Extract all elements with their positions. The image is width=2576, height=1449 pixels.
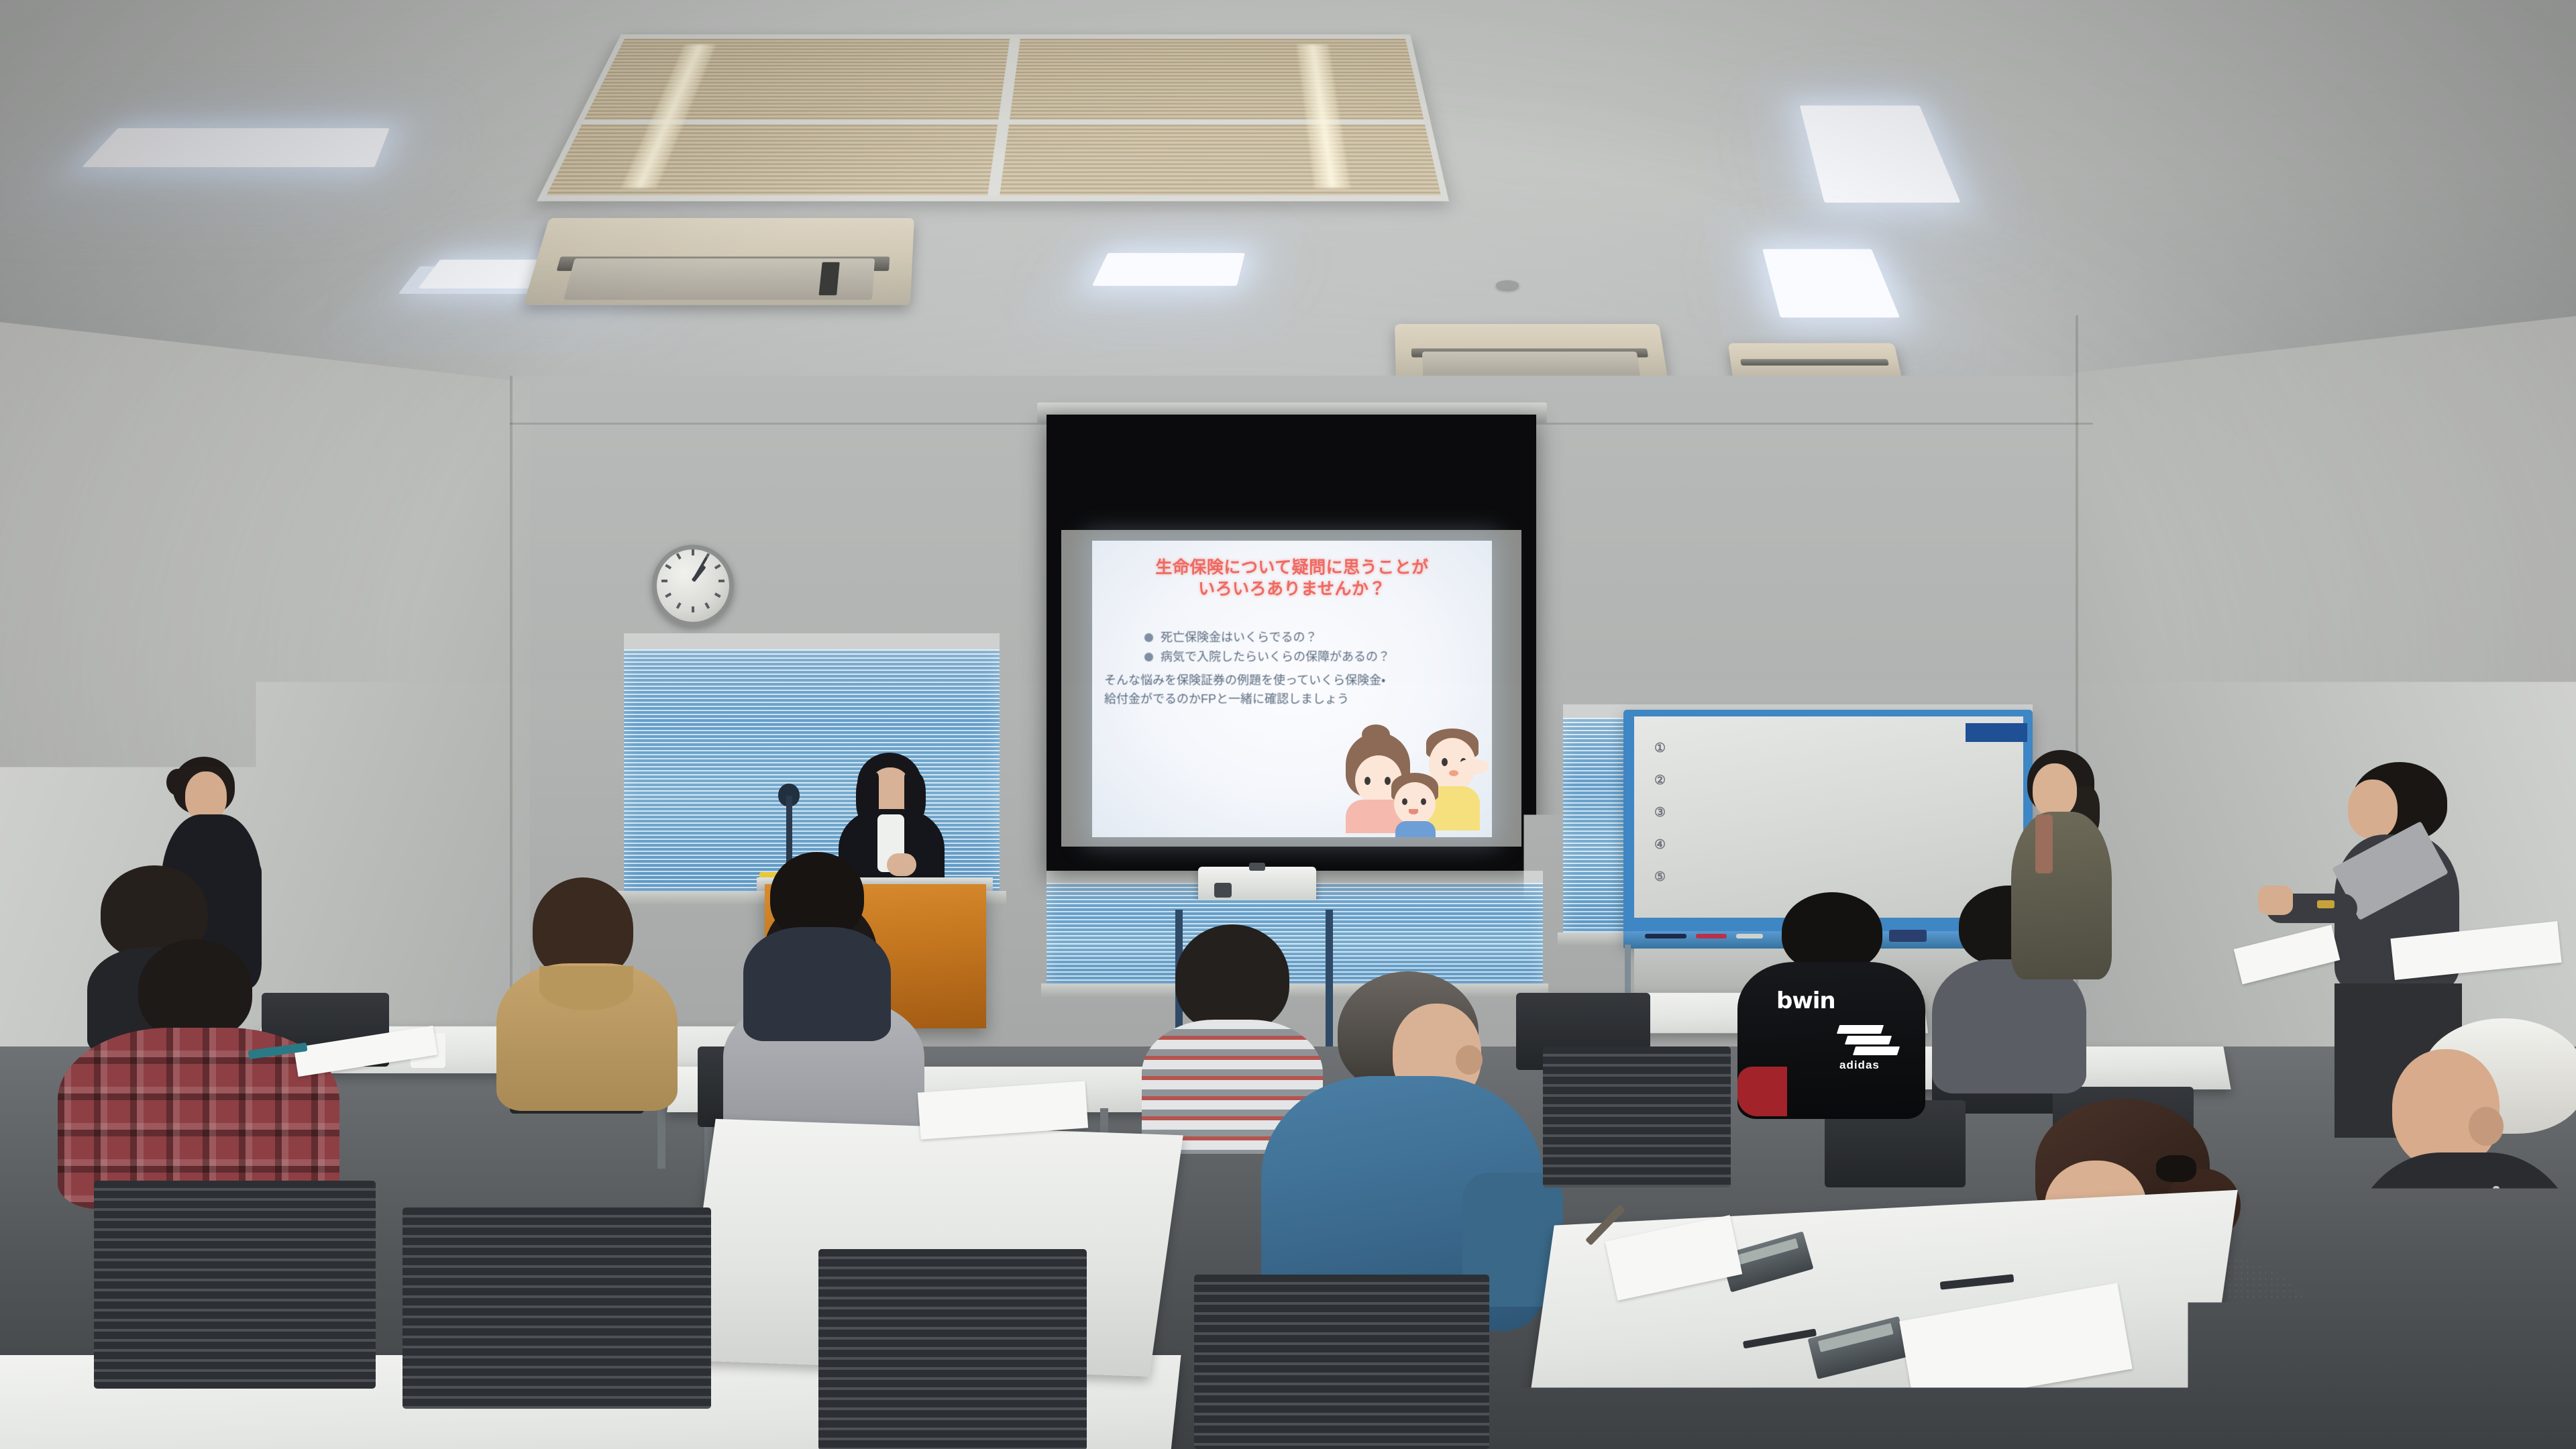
air-conditioner-unit	[1395, 324, 1668, 383]
seminar-room-photo: 生命保険について疑問に思うことが いろいろありませんか？ 死亡保険金はいくらでる…	[0, 0, 2576, 1449]
slide-bullet-list: 死亡保険金はいくらでるの？ 病気で入院したらいくらの保障があるの？	[1116, 628, 1479, 667]
slide-body-text: そんな悩みを保険証券の例題を使っていくら保険金・ 給付金がでるのかFPと一緒に確…	[1104, 672, 1483, 709]
blind-headrail	[624, 633, 1000, 649]
family-clipart-icon	[1334, 720, 1481, 833]
slide-bullet-item: 死亡保険金はいくらでるの？	[1143, 628, 1479, 647]
attendee-man-blue-shirt-glasses	[1261, 971, 1543, 1320]
air-conditioner-unit	[523, 218, 914, 305]
whiteboard-number-1: ①	[1654, 741, 1666, 756]
foreground-chair[interactable]	[402, 1207, 711, 1409]
foreground-desk-bottom	[0, 1382, 1224, 1449]
wall-clock	[652, 545, 734, 627]
projector-lens-icon	[1214, 883, 1232, 898]
whiteboard-marker-black[interactable]	[1645, 934, 1686, 938]
presentation-slide: 生命保険について疑問に思うことが いろいろありませんか？ 死亡保険金はいくらでる…	[1092, 541, 1492, 837]
foreground-chair[interactable]	[1194, 1275, 1489, 1449]
standing-woman-right	[2003, 750, 2124, 1005]
whiteboard-number-2: ②	[1654, 773, 1666, 788]
foreground-chair[interactable]	[94, 1181, 376, 1389]
adidas-logo-text: adidas	[1839, 1059, 1880, 1072]
ceiling-strip-light	[82, 128, 390, 167]
adidas-stripe-icon	[1837, 1025, 1884, 1034]
slide-title: 生命保険について疑問に思うことが いろいろありませんか？	[1092, 557, 1492, 600]
adidas-stripe-icon	[1853, 1046, 1900, 1055]
adidas-stripe-icon	[1845, 1036, 1892, 1044]
clock-minute-hand	[692, 557, 707, 582]
bwin-logo-text: bwin	[1776, 987, 1835, 1014]
ceiling-strip-light	[1092, 253, 1245, 286]
whiteboard-number-4: ④	[1654, 837, 1666, 853]
attendee-elderly-man-white-hair	[2344, 1018, 2576, 1449]
slide-bullet-item: 病気で入院したらいくらの保障があるの？	[1143, 647, 1479, 667]
whiteboard-marker-red[interactable]	[1696, 934, 1727, 938]
attendee-woman-tan-hoodie	[496, 877, 678, 1099]
whiteboard-number-5: ⑤	[1654, 869, 1666, 885]
smoke-detector-icon	[1496, 280, 1519, 290]
whiteboard-blue-tag	[1966, 723, 2027, 742]
attendee-man-bwin-adidas-jacket: bwin adidas	[1737, 892, 1925, 1114]
whiteboard-number-3: ③	[1654, 805, 1666, 820]
foreground-desk-right	[1525, 1190, 2237, 1426]
foreground-chair[interactable]	[1543, 1046, 1731, 1187]
av-cart-top	[1173, 904, 1340, 914]
projector-knob	[1249, 863, 1265, 871]
attendee-woman-navy-cardigan	[743, 852, 891, 1026]
